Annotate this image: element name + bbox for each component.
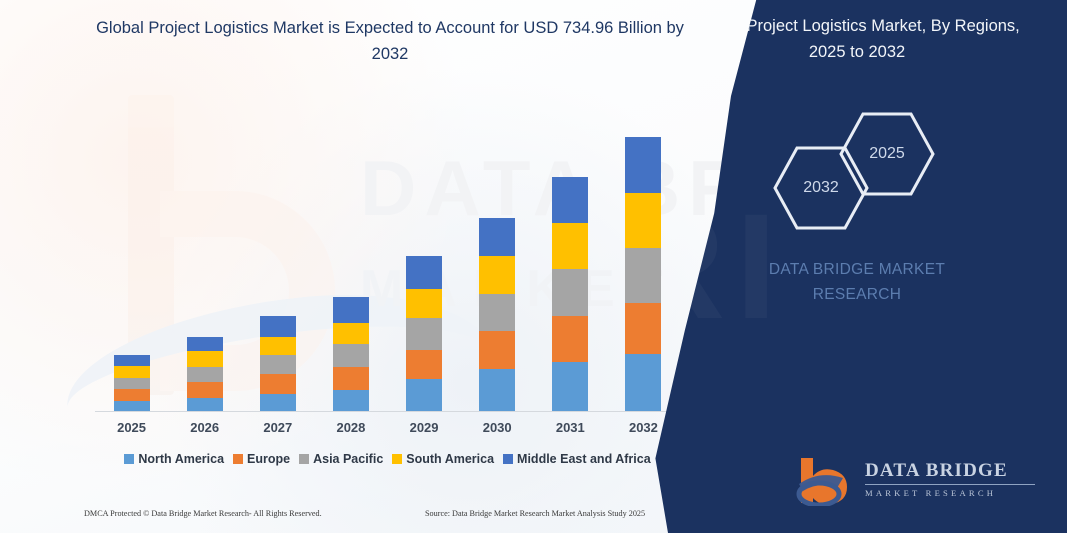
x-axis-labels: 20252026202720282029203020312032 xyxy=(95,420,680,442)
legend-swatch-icon xyxy=(299,454,309,464)
bar-segment xyxy=(114,378,150,389)
bar-segment xyxy=(406,379,442,412)
bar-segment xyxy=(479,331,515,369)
footer-dmca: DMCA Protected © Data Bridge Market Rese… xyxy=(84,509,322,518)
legend-item[interactable]: Europe xyxy=(233,452,290,466)
bar-2031 xyxy=(552,177,588,412)
bar-segment xyxy=(479,218,515,256)
stacked-bar-chart xyxy=(95,120,680,412)
x-axis-label-2031: 2031 xyxy=(538,420,602,435)
bar-segment xyxy=(552,316,588,362)
bar-segment xyxy=(479,369,515,412)
x-axis-label-2027: 2027 xyxy=(246,420,310,435)
bar-2026 xyxy=(187,337,223,412)
legend-swatch-icon xyxy=(503,454,513,464)
bar-segment xyxy=(552,177,588,223)
footer-source: Source: Data Bridge Market Research Mark… xyxy=(425,509,645,518)
chart-legend: North AmericaEuropeAsia PacificSouth Ame… xyxy=(95,452,680,466)
hexagon-badge-2032-label: 2032 xyxy=(803,179,839,197)
data-bridge-logo: DATA BRIDGE MARKET RESEARCH xyxy=(795,452,1035,508)
logo-mark-icon xyxy=(795,454,857,506)
legend-item[interactable]: South America xyxy=(392,452,494,466)
bar-segment xyxy=(625,354,661,412)
bar-segment xyxy=(187,337,223,351)
footer: DMCA Protected © Data Bridge Market Rese… xyxy=(0,505,720,531)
bar-segment xyxy=(625,137,661,193)
x-axis-line xyxy=(95,411,675,412)
bar-2030 xyxy=(479,218,515,412)
bar-segment xyxy=(114,366,150,378)
legend-swatch-icon xyxy=(392,454,402,464)
bar-segment xyxy=(187,367,223,382)
bar-segment xyxy=(479,294,515,331)
legend-label: Europe xyxy=(247,452,290,466)
hexagon-badge-2025-label: 2025 xyxy=(869,145,905,163)
bar-segment xyxy=(406,289,442,318)
bar-segment xyxy=(552,362,588,412)
bar-segment xyxy=(406,256,442,289)
x-axis-label-2026: 2026 xyxy=(173,420,237,435)
bar-segment xyxy=(187,382,223,397)
legend-label: Middle East and Africa xyxy=(517,452,651,466)
bar-segment xyxy=(479,256,515,294)
bar-segment xyxy=(114,389,150,401)
bar-segment xyxy=(333,344,369,367)
hexagon-badge-2032: 2032 xyxy=(773,146,869,230)
legend-label: North America xyxy=(138,452,224,466)
legend-item[interactable]: North America xyxy=(124,452,224,466)
bar-segment xyxy=(333,323,369,344)
bar-segment xyxy=(333,297,369,323)
bar-2028 xyxy=(333,297,369,412)
bar-segment xyxy=(260,394,296,412)
logo-wordmark-line2: MARKET RESEARCH xyxy=(865,488,1035,498)
bar-segment xyxy=(625,193,661,249)
legend-swatch-icon xyxy=(124,454,134,464)
bar-segment xyxy=(260,374,296,393)
bar-2027 xyxy=(260,316,296,412)
bar-segment xyxy=(625,248,661,302)
x-axis-label-2030: 2030 xyxy=(465,420,529,435)
bar-segment xyxy=(187,351,223,367)
bar-segment xyxy=(187,398,223,412)
logo-wordmark: DATA BRIDGE MARKET RESEARCH xyxy=(865,460,1035,498)
bar-segment xyxy=(260,355,296,374)
bar-segment xyxy=(333,367,369,390)
x-axis-label-2028: 2028 xyxy=(319,420,383,435)
legend-label: Asia Pacific xyxy=(313,452,383,466)
infographic-page: DATA BRIDGE MARKET RESEARCH Global Proje… xyxy=(0,0,1067,533)
bar-2025 xyxy=(114,355,150,412)
bar-segment xyxy=(625,303,661,355)
bar-segment xyxy=(406,318,442,350)
bar-2032 xyxy=(625,137,661,412)
bar-segment xyxy=(406,350,442,379)
bar-segment xyxy=(552,269,588,316)
bar-segment xyxy=(552,223,588,269)
brand-caption: DATA BRIDGE MARKET RESEARCH xyxy=(687,258,1027,308)
bar-segment xyxy=(260,316,296,337)
legend-item[interactable]: Asia Pacific xyxy=(299,452,383,466)
logo-wordmark-line1: DATA BRIDGE xyxy=(865,460,1035,485)
legend-item[interactable]: Middle East and Africa xyxy=(503,452,651,466)
bar-segment xyxy=(260,337,296,355)
x-axis-label-2029: 2029 xyxy=(392,420,456,435)
brand-caption-line1: DATA BRIDGE MARKET xyxy=(687,258,1027,283)
legend-swatch-icon xyxy=(233,454,243,464)
hexagon-group: 2025 2032 xyxy=(753,112,953,222)
bar-segment xyxy=(114,355,150,366)
brand-caption-line2: RESEARCH xyxy=(687,283,1027,308)
x-axis-label-2025: 2025 xyxy=(100,420,164,435)
bar-segment xyxy=(333,390,369,412)
bar-2029 xyxy=(406,256,442,412)
chart-panel: DATA BRIDGE MARKET RESEARCH Global Proje… xyxy=(0,0,760,533)
legend-label: South America xyxy=(406,452,494,466)
page-title: Global Project Logistics Market is Expec… xyxy=(90,16,690,67)
